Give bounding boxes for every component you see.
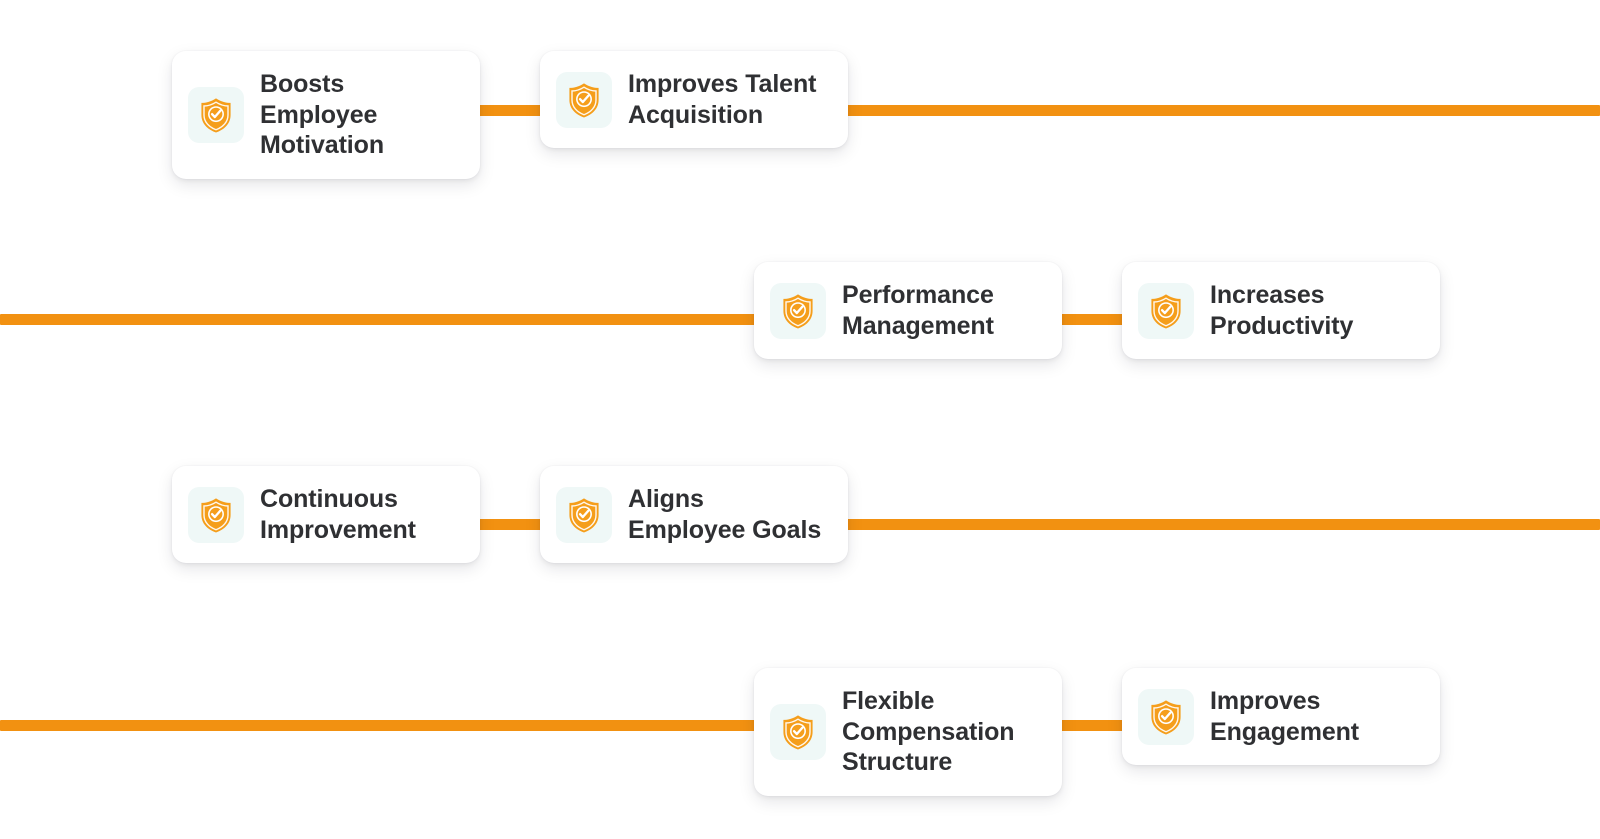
card-increases-productivity[interactable]: Increases Productivity: [1122, 262, 1440, 359]
connector-row4-between-cards: [1058, 720, 1128, 731]
shield-check-icon: [1138, 283, 1194, 339]
shield-check-icon: [770, 283, 826, 339]
connector-row3-between-cards: [476, 519, 546, 530]
connector-row2-between-cards: [1058, 314, 1128, 325]
shield-check-icon: [188, 87, 244, 143]
shield-check-icon: [556, 72, 612, 128]
card-label: Continuous Improvement: [260, 484, 460, 545]
card-label: Boosts Employee Motivation: [260, 69, 460, 161]
diagram-canvas: Boosts Employee Motivation Improves Tale…: [0, 0, 1600, 839]
shield-check-icon: [556, 487, 612, 543]
card-label: Flexible Compensation Structure: [842, 686, 1042, 778]
card-label: Improves Talent Acquisition: [628, 69, 828, 130]
card-label: Performance Management: [842, 280, 1042, 341]
card-performance-management[interactable]: Performance Management: [754, 262, 1062, 359]
connector-row3-right-tail: [845, 519, 1600, 530]
connector-row4-left-tail: [0, 720, 760, 731]
shield-check-icon: [770, 704, 826, 760]
card-aligns-employee-goals[interactable]: Aligns Employee Goals: [540, 466, 848, 563]
card-label: Increases Productivity: [1210, 280, 1410, 341]
shield-check-icon: [1138, 689, 1194, 745]
connector-row1-between-cards: [476, 105, 546, 116]
card-label: Improves Engagement: [1210, 686, 1410, 747]
shield-check-icon: [188, 487, 244, 543]
connector-row1-right-tail: [845, 105, 1600, 116]
card-label: Aligns Employee Goals: [628, 484, 828, 545]
card-improves-talent-acquisition[interactable]: Improves Talent Acquisition: [540, 51, 848, 148]
connector-row2-left-tail: [0, 314, 760, 325]
card-flexible-compensation-structure[interactable]: Flexible Compensation Structure: [754, 668, 1062, 796]
card-continuous-improvement[interactable]: Continuous Improvement: [172, 466, 480, 563]
card-boosts-employee-motivation[interactable]: Boosts Employee Motivation: [172, 51, 480, 179]
card-improves-engagement[interactable]: Improves Engagement: [1122, 668, 1440, 765]
